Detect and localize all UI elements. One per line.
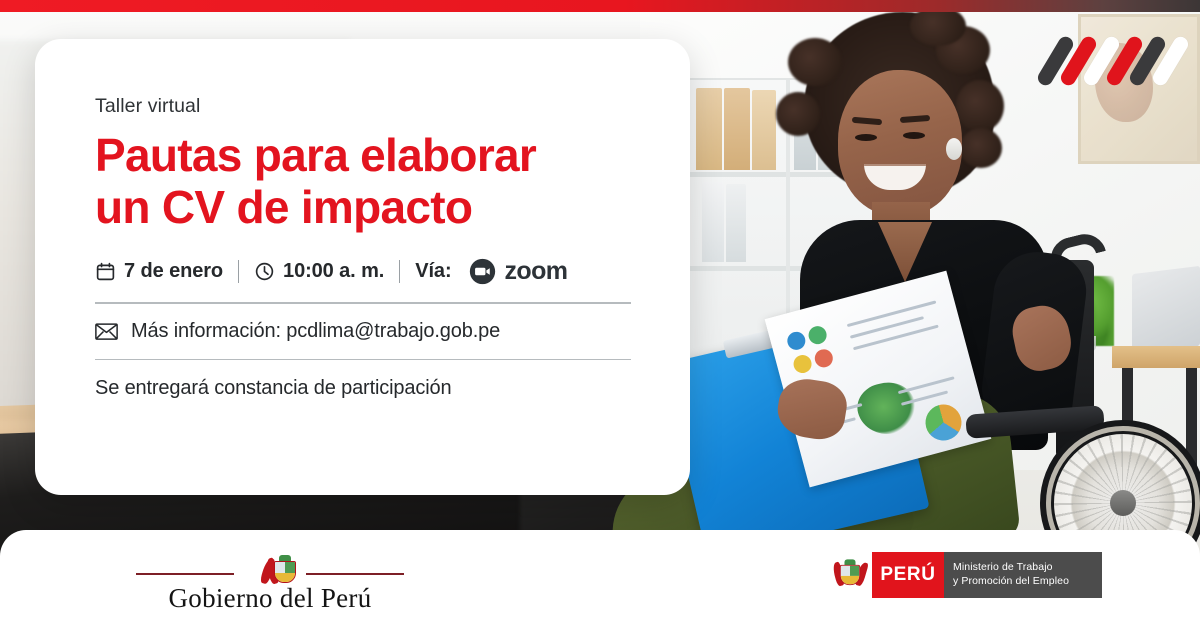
peru-coat-of-arms-icon [828,552,872,598]
top-red-bar [0,0,1200,12]
gobierno-del-peru-label: Gobierno del Perú [130,583,410,614]
ministerio-label: Ministerio de Trabajo y Promoción del Em… [944,552,1102,598]
photo-person [760,6,1090,546]
divider-top [95,302,631,303]
event-date-text: 7 de enero [124,260,223,283]
page-title: Pautas para elaborar un CV de impacto [95,130,634,233]
gobierno-del-peru-logo: Gobierno del Perú [130,542,410,614]
photo-desk-top [1112,346,1200,368]
ministerio-line-1: Ministerio de Trabajo [953,561,1102,575]
person-face [838,70,962,216]
headline-line-2: un CV de impacto [95,182,634,234]
zoom-wordmark: zoom [505,257,568,286]
clock-icon [254,261,275,282]
contact-info-row: Más información: pcdlima@trabajo.gob.pe [95,320,634,343]
content-card: Taller virtual Pautas para elaborar un C… [35,39,690,495]
diagonal-bars-decoration [1048,34,1198,92]
meta-separator [238,260,239,283]
contact-info-text: Más información: pcdlima@trabajo.gob.pe [131,320,500,343]
calendar-icon [95,261,116,282]
gobierno-emblem-row [130,542,410,584]
event-date: 7 de enero [95,260,223,283]
divider-bottom [95,359,631,360]
event-platform: Vía: zoom [415,257,567,286]
ministerio-de-trabajo-logo: PERÚ Ministerio de Trabajo y Promoción d… [828,552,1102,598]
certificate-note: Se entregará constancia de participación [95,377,634,400]
event-meta-row: 7 de enero 10:00 a. m. Vía: [95,257,634,286]
zoom-camera-icon [469,258,496,285]
envelope-icon [95,322,118,341]
meta-separator [399,260,400,283]
ministerio-line-2: y Promoción del Empleo [953,575,1102,589]
via-label: Vía: [415,260,451,283]
peru-label: PERÚ [872,552,944,598]
event-time-text: 10:00 a. m. [283,260,384,283]
person-earring [946,138,962,160]
footer: Gobierno del Perú PERÚ Ministerio de Tra… [0,530,1200,628]
eyebrow-label: Taller virtual [95,95,634,118]
event-time: 10:00 a. m. [254,260,384,283]
headline-line-1: Pautas para elaborar [95,130,634,182]
zoom-logo: zoom [469,257,568,286]
poster: Taller virtual Pautas para elaborar un C… [0,0,1200,628]
photo-laptop [1132,266,1200,354]
